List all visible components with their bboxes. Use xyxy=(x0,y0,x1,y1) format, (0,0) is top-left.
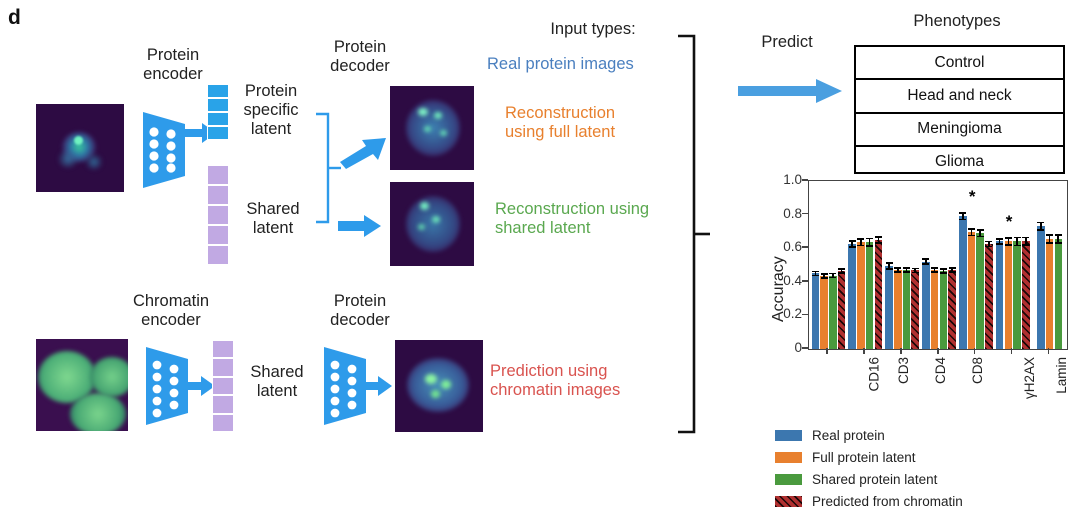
chart-error-cap xyxy=(977,236,984,238)
phenotype-row-head-and-neck: Head and neck xyxy=(856,80,1063,113)
shared-latent-label-top-line2: latent xyxy=(234,219,312,238)
chart-error-cap xyxy=(857,245,864,247)
chart-error-cap xyxy=(968,228,975,230)
chart-error-cap xyxy=(821,277,828,279)
chart-bar xyxy=(976,233,984,349)
chart-x-tick-mark xyxy=(1048,348,1050,354)
chart-legend-swatch xyxy=(775,452,802,463)
input-type-full-latent-line2: using full latent xyxy=(505,123,705,142)
protein-specific-latent-vector xyxy=(207,84,229,140)
chart-y-tick-label: 0.2 xyxy=(768,306,802,321)
decoder-to-full-reconstruction-arrow xyxy=(340,136,388,175)
chromatin-encoder-label-line2: encoder xyxy=(110,311,232,330)
chart-error-cap xyxy=(866,245,873,247)
chart-error-cap xyxy=(838,268,845,270)
chart-error-cap xyxy=(829,273,836,275)
input-type-chromatin-line2: chromatin images xyxy=(490,381,700,400)
protein-decoder-label-bottom-line2: decoder xyxy=(313,311,407,330)
phenotype-label: Meningioma xyxy=(917,120,1001,138)
chart-bar xyxy=(931,270,939,349)
chart-error-cap xyxy=(1014,237,1021,239)
latent-cell xyxy=(207,112,229,126)
input-type-full-latent-reconstruction: Reconstruction using full latent xyxy=(505,104,705,142)
chart-error-cap xyxy=(959,212,966,214)
chart-x-category-label: CD8 xyxy=(970,357,985,384)
chart-x-tick-mark xyxy=(937,348,939,354)
latent-cell xyxy=(207,185,229,205)
chart-error-cap xyxy=(812,275,819,277)
latent-cell xyxy=(207,165,229,185)
chart-y-tick-label: 0.6 xyxy=(768,239,802,254)
chart-error-cap xyxy=(985,241,992,243)
protein-decoder-label-top-line2: decoder xyxy=(313,57,407,76)
chart-error-cap xyxy=(894,271,901,273)
chart-bar xyxy=(885,266,893,349)
chromatin-encoder-label: Chromatin encoder xyxy=(110,292,232,330)
protein-encoder-label-line2: encoder xyxy=(118,65,228,84)
latent-merge-bracket xyxy=(314,112,342,229)
latent-cell xyxy=(207,225,229,245)
chart-plot-area xyxy=(808,180,1068,350)
chart-error-cap xyxy=(931,267,938,269)
chart-bar xyxy=(829,276,837,349)
chart-x-category-label: CD4 xyxy=(933,357,948,384)
shared-latent-label-top-line1: Shared xyxy=(234,200,312,219)
chart-error-cap xyxy=(838,272,845,274)
chart-error-cap xyxy=(949,267,956,269)
phenotype-row-meningioma: Meningioma xyxy=(856,114,1063,147)
chart-legend-item: Shared protein latent xyxy=(775,472,963,487)
protein-decoder-label-bottom: Protein decoder xyxy=(313,292,407,330)
input-type-chromatin-line1: Prediction using xyxy=(490,362,700,381)
chart-error-cap xyxy=(1022,237,1029,239)
chart-y-tick-label: 0.4 xyxy=(768,273,802,288)
decoder-to-shared-reconstruction-arrow xyxy=(338,215,382,242)
chart-bar xyxy=(1013,241,1021,349)
protein-specific-latent-label-line2: specific xyxy=(232,101,310,120)
chart-bar xyxy=(1022,241,1030,349)
latent-cell xyxy=(212,358,234,376)
decoder-to-prediction-arrow xyxy=(360,375,394,402)
chart-bar xyxy=(903,270,911,349)
chart-legend-swatch xyxy=(775,430,802,441)
protein-decoder-label-top: Protein decoder xyxy=(313,38,407,76)
chart-y-tick-label: 1.0 xyxy=(768,172,802,187)
chart-error-cap xyxy=(1037,229,1044,231)
phenotype-row-control: Control xyxy=(856,47,1063,80)
chart-legend-label: Real protein xyxy=(812,428,885,443)
chart-legend-swatch xyxy=(775,474,802,485)
chart-error-cap xyxy=(849,246,856,248)
chart-error-cap xyxy=(922,263,929,265)
chart-error-cap xyxy=(1005,237,1012,239)
chart-error-cap xyxy=(812,271,819,273)
chart-bar xyxy=(894,270,902,349)
input-type-chromatin-prediction: Prediction using chromatin images xyxy=(490,362,700,400)
chart-legend: Real proteinFull protein latentShared pr… xyxy=(775,428,963,516)
chart-bar xyxy=(812,273,820,349)
chromatin-input-image xyxy=(36,339,128,431)
latent-cell xyxy=(212,377,234,395)
chart-error-cap xyxy=(1055,234,1062,236)
chart-error-cap xyxy=(1022,244,1029,246)
inputs-to-chart-bracket xyxy=(676,34,712,439)
chart-error-cap xyxy=(940,268,947,270)
latent-cell xyxy=(212,395,234,413)
input-type-real-protein-images-text: Real protein images xyxy=(487,55,687,74)
protein-input-image xyxy=(36,104,124,192)
phenotype-label: Head and neck xyxy=(907,87,1011,105)
chart-bar xyxy=(948,270,956,349)
chart-legend-item: Predicted from chromatin xyxy=(775,494,963,509)
protein-specific-latent-label: Protein specific latent xyxy=(232,82,310,139)
chart-bar xyxy=(1055,239,1063,349)
panel-letter: d xyxy=(8,6,21,30)
chart-legend-item: Full protein latent xyxy=(775,450,963,465)
chart-error-cap xyxy=(968,235,975,237)
protein-encoder-label: Protein encoder xyxy=(118,46,228,84)
chart-error-cap xyxy=(949,271,956,273)
input-type-full-latent-line1: Reconstruction xyxy=(505,104,705,123)
chart-bar xyxy=(922,262,930,349)
protein-specific-latent-label-line3: latent xyxy=(232,120,310,139)
chart-error-cap xyxy=(821,273,828,275)
shared-latent-label-top: Shared latent xyxy=(234,200,312,238)
latent-cell xyxy=(207,245,229,265)
chart-error-cap xyxy=(857,238,864,240)
chart-error-cap xyxy=(875,236,882,238)
shared-latent-label-bottom-line2: latent xyxy=(238,382,316,401)
chart-error-cap xyxy=(1046,234,1053,236)
chart-x-category-label: Lamin xyxy=(1053,357,1068,394)
chart-x-category-label: CD3 xyxy=(896,357,911,384)
shared-latent-label-bottom: Shared latent xyxy=(238,363,316,401)
chromatin-encoder-label-line1: Chromatin xyxy=(110,292,232,311)
chart-error-cap xyxy=(886,262,893,264)
chart-bar xyxy=(968,232,976,349)
chart-x-tick-mark xyxy=(1011,348,1013,354)
chart-significance-star: * xyxy=(1006,212,1013,232)
chart-legend-swatch xyxy=(775,496,802,507)
chart-legend-label: Predicted from chromatin xyxy=(812,494,963,509)
chart-bar xyxy=(985,244,993,349)
full-latent-reconstruction-image xyxy=(390,86,474,170)
chart-bar xyxy=(1046,239,1054,349)
accuracy-bar-chart: Accuracy 00.20.40.60.81.0 CD16CD3CD4CD8γ… xyxy=(760,172,1070,362)
chart-x-tick-mark xyxy=(863,348,865,354)
chart-error-cap xyxy=(903,267,910,269)
chart-error-cap xyxy=(1046,242,1053,244)
chart-bar xyxy=(838,271,846,349)
chart-error-cap xyxy=(912,272,919,274)
chart-x-category-label: γH2AX xyxy=(1022,357,1037,399)
chart-x-tick-mark xyxy=(900,348,902,354)
chart-error-cap xyxy=(866,238,873,240)
latent-cell xyxy=(212,414,234,432)
phenotype-label: Glioma xyxy=(935,153,984,171)
chart-bar xyxy=(866,242,874,349)
chart-error-cap xyxy=(1055,242,1062,244)
chart-bar xyxy=(848,244,856,349)
predict-arrow xyxy=(738,78,844,109)
chart-bar xyxy=(911,270,919,349)
chart-bar xyxy=(875,240,883,349)
chart-legend-item: Real protein xyxy=(775,428,963,443)
chart-legend-label: Full protein latent xyxy=(812,450,916,465)
chart-y-tick-label: 0 xyxy=(768,340,802,355)
shared-latent-label-bottom-line1: Shared xyxy=(238,363,316,382)
phenotypes-title: Phenotypes xyxy=(862,12,1052,31)
chart-error-cap xyxy=(985,246,992,248)
protein-decoder-label-top-line1: Protein xyxy=(313,38,407,57)
chart-error-cap xyxy=(875,242,882,244)
chart-error-cap xyxy=(996,238,1003,240)
chart-x-tick-mark xyxy=(974,348,976,354)
chart-error-cap xyxy=(1037,222,1044,224)
chart-bar xyxy=(959,216,967,349)
chart-error-cap xyxy=(996,243,1003,245)
predict-label: Predict xyxy=(742,33,832,52)
chart-error-cap xyxy=(1014,245,1021,247)
chart-bar xyxy=(1037,226,1045,349)
chart-x-category-label: CD16 xyxy=(867,357,882,392)
chart-error-cap xyxy=(959,219,966,221)
protein-encoder-label-line1: Protein xyxy=(118,46,228,65)
chart-error-cap xyxy=(829,277,836,279)
input-type-real-protein-images: Real protein images xyxy=(487,55,687,74)
latent-cell xyxy=(212,340,234,358)
shared-latent-vector-bottom xyxy=(212,340,234,432)
protein-specific-latent-label-line1: Protein xyxy=(232,82,310,101)
latent-cell xyxy=(207,98,229,112)
chart-bar xyxy=(857,242,865,349)
chart-bar xyxy=(820,276,828,349)
shared-latent-vector-top xyxy=(207,165,229,265)
chart-error-cap xyxy=(940,272,947,274)
chart-error-cap xyxy=(903,271,910,273)
chart-error-cap xyxy=(849,240,856,242)
chromatin-prediction-image xyxy=(395,340,483,432)
chart-error-cap xyxy=(894,267,901,269)
chart-bars-layer xyxy=(809,181,1067,349)
phenotypes-table: Control Head and neck Meningioma Glioma xyxy=(854,45,1065,174)
phenotype-label: Control xyxy=(935,54,985,72)
chart-bar xyxy=(940,271,948,349)
shared-latent-reconstruction-image xyxy=(390,182,474,266)
latent-cell xyxy=(207,126,229,140)
chart-error-cap xyxy=(977,229,984,231)
chart-error-cap xyxy=(931,271,938,273)
chart-error-cap xyxy=(912,268,919,270)
chart-legend-label: Shared protein latent xyxy=(812,472,937,487)
latent-cell xyxy=(207,205,229,225)
latent-cell xyxy=(207,84,229,98)
protein-decoder-label-bottom-line1: Protein xyxy=(313,292,407,311)
chart-error-cap xyxy=(922,258,929,260)
chart-x-tick-mark xyxy=(826,348,828,354)
chart-significance-star: * xyxy=(969,187,976,207)
chart-y-tick-label: 0.8 xyxy=(768,206,802,221)
input-types-heading: Input types: xyxy=(498,20,688,39)
chart-error-cap xyxy=(1005,244,1012,246)
chart-error-cap xyxy=(886,268,893,270)
chart-bar xyxy=(996,241,1004,349)
chart-bar xyxy=(1005,241,1013,349)
